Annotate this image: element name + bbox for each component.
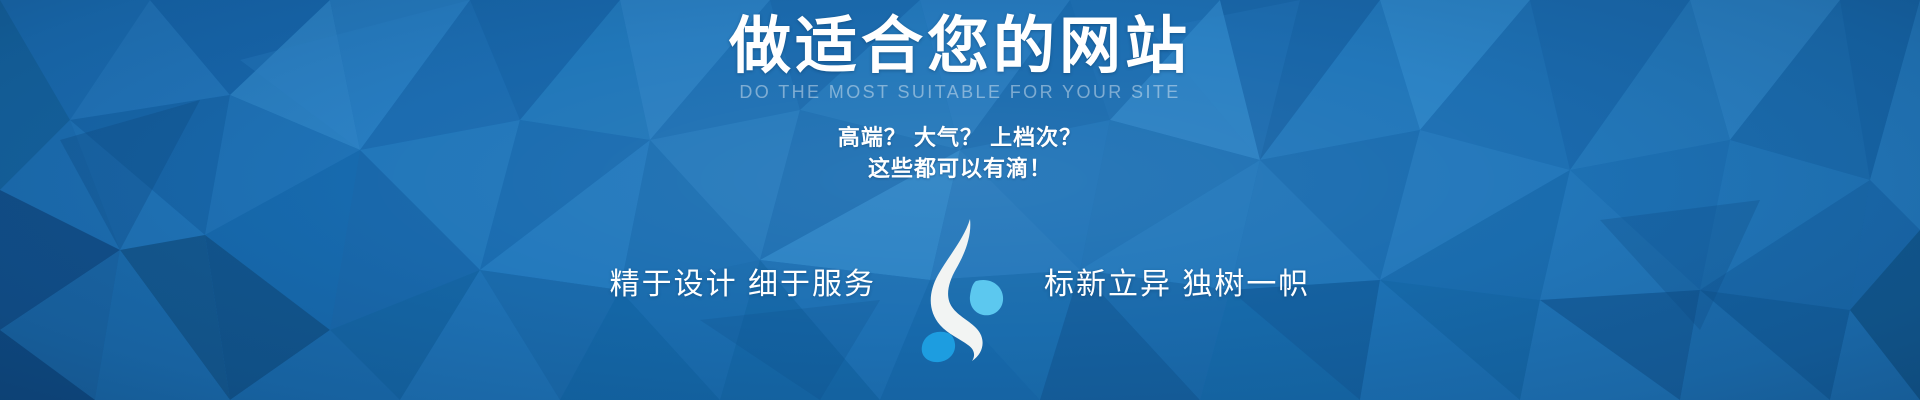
tagline-line-2: 这些都可以有滴！ <box>868 153 1052 184</box>
tagline-block: 高端？ 大气？ 上档次？ 这些都可以有滴！ <box>838 122 1082 184</box>
page-subtitle-english: DO THE MOST SUITABLE FOR YOUR SITE <box>739 83 1180 103</box>
slogan-right: 标新立异 独树一帜 <box>1016 270 1344 300</box>
page-title: 做适合您的网站 <box>729 14 1191 79</box>
tagline-line-1: 高端？ 大气？ 上档次？ <box>838 122 1082 153</box>
slogan-row: 精于设计 细于服务 标新立异 独树一帜 <box>0 207 1920 363</box>
brand-logo <box>904 213 1016 363</box>
banner-content: 做适合您的网站 DO THE MOST SUITABLE FOR YOUR SI… <box>0 0 1920 400</box>
hero-banner: 做适合您的网站 DO THE MOST SUITABLE FOR YOUR SI… <box>0 0 1920 400</box>
swoosh-leaf-logo-icon <box>904 213 1016 363</box>
slogan-left: 精于设计 细于服务 <box>576 270 904 300</box>
